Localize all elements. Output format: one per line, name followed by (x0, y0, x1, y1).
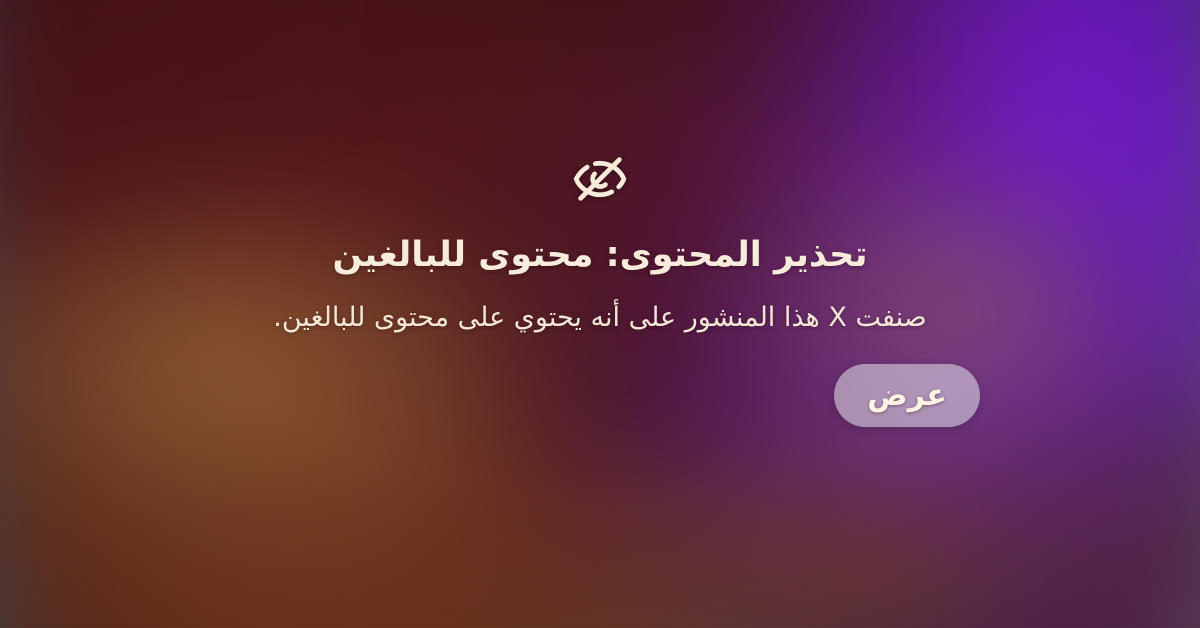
content-warning-screen: تحذير المحتوى: محتوى للبالغين صنفت X هذا… (0, 0, 1200, 628)
page-title: تحذير المحتوى: محتوى للبالغين (220, 234, 980, 278)
warning-description: صنفت X هذا المنشور على أنه يحتوي على محت… (220, 300, 980, 336)
warning-panel: تحذير المحتوى: محتوى للبالغين صنفت X هذا… (0, 0, 1200, 628)
warning-actions: عرض (220, 364, 980, 427)
view-button[interactable]: عرض (834, 364, 980, 427)
eye-off-icon (573, 152, 627, 206)
warning-content-column: تحذير المحتوى: محتوى للبالغين صنفت X هذا… (220, 152, 980, 427)
